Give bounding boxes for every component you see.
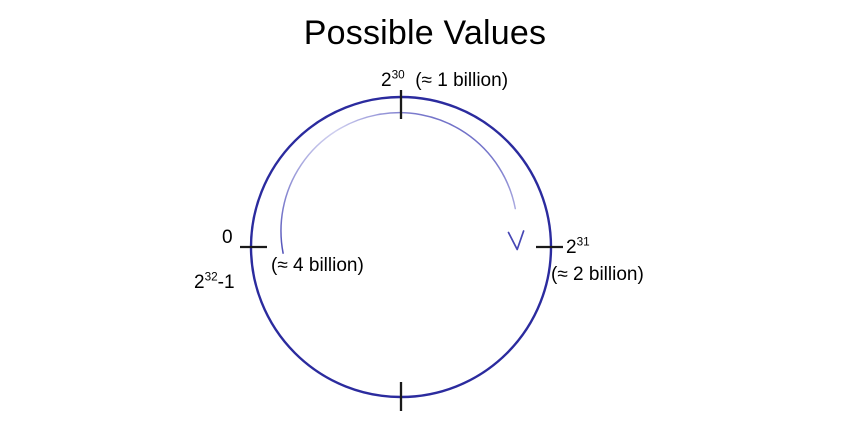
slide-canvas: Possible Values 230 (≈ 1 billion) 231 (≈… [0,0,850,437]
label-top-exponent: 30 [392,69,405,82]
arrow-head-icon [509,231,524,250]
label-right-exponent: 31 [577,236,590,249]
number-wheel-diagram [0,0,850,437]
label-max-exponent: 32 [205,271,218,284]
clockwise-arrow-arc [281,113,515,254]
label-top-base: 2 [381,70,392,91]
label-two-pow-31: 231 [566,237,590,258]
label-max-base: 2 [194,272,205,293]
label-approx-4-billion: (≈ 4 billion) [271,255,364,276]
label-max-suffix: -1 [218,272,235,293]
label-two-pow-30: 230 (≈ 1 billion) [381,70,508,91]
label-right-base: 2 [566,237,577,258]
wheel-circle [251,97,551,397]
label-approx-2-billion: (≈ 2 billion) [551,264,644,285]
label-zero: 0 [222,227,233,248]
label-two-pow-32-minus-1: 232-1 [194,272,235,293]
label-top-approx: (≈ 1 billion) [405,70,508,91]
